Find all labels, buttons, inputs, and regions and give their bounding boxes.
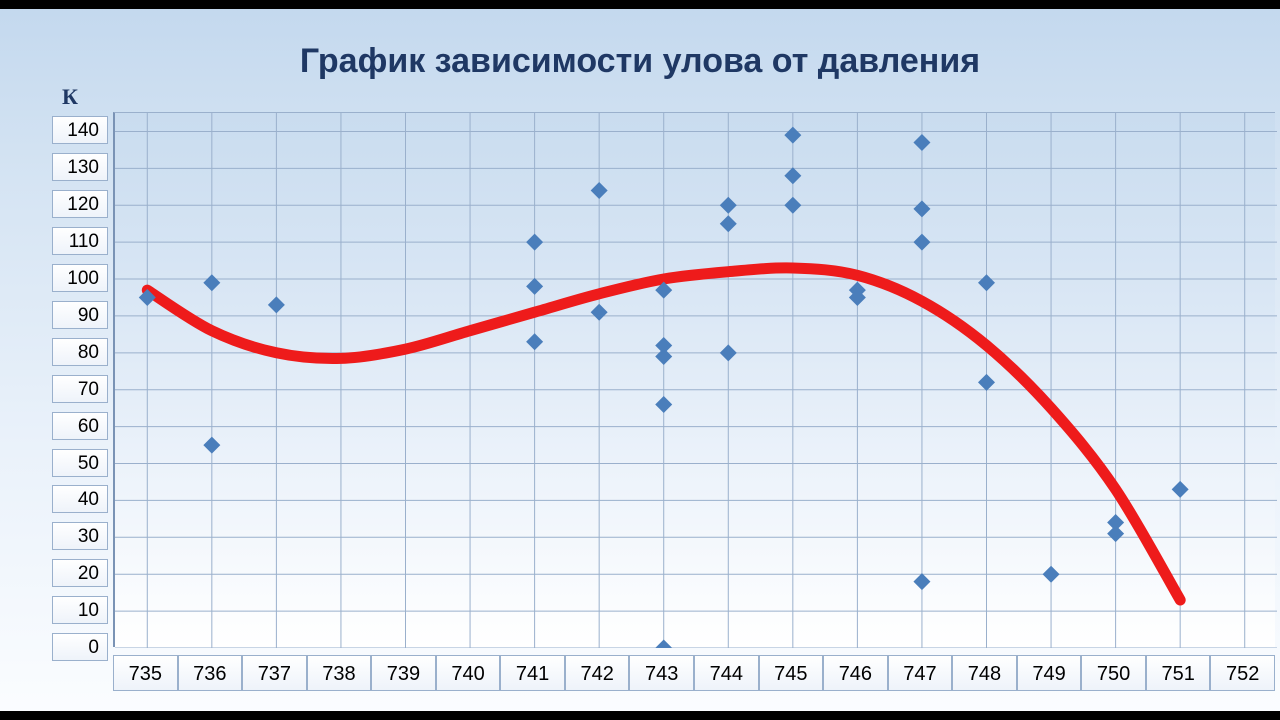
data-point-marker (720, 344, 737, 361)
y-axis-tick: 50 (52, 449, 108, 477)
y-axis-tick: 90 (52, 301, 108, 329)
x-axis-tick: 740 (436, 655, 501, 691)
y-axis-tick: 10 (52, 596, 108, 624)
y-axis-label: К (62, 84, 78, 110)
x-axis-tick: 749 (1017, 655, 1082, 691)
x-axis-tick: 736 (178, 655, 243, 691)
data-point-marker (655, 396, 672, 413)
data-point-marker (784, 127, 801, 144)
y-axis-tick: 60 (52, 412, 108, 440)
x-axis-tick: 750 (1081, 655, 1146, 691)
y-axis-tick: 100 (52, 264, 108, 292)
x-axis-tick: 751 (1146, 655, 1211, 691)
y-axis-tick: 130 (52, 153, 108, 181)
y-axis-tick: 30 (52, 522, 108, 550)
y-axis-tick: 70 (52, 375, 108, 403)
x-axis-tick: 744 (694, 655, 759, 691)
y-axis-tick: 140 (52, 116, 108, 144)
x-axis-tick: 738 (307, 655, 372, 691)
data-point-marker (913, 573, 930, 590)
data-point-marker (591, 304, 608, 321)
data-point-marker (720, 197, 737, 214)
x-axis-tick-labels: 7357367377387397407417427437447457467477… (113, 655, 1275, 691)
data-point-marker (591, 182, 608, 199)
data-point-marker (913, 134, 930, 151)
data-point-marker (1107, 525, 1124, 542)
data-point-marker (655, 640, 672, 649)
y-axis-tick: 120 (52, 190, 108, 218)
y-axis-tick-labels: 0102030405060708090100110120130140 (42, 112, 108, 657)
data-point-marker (268, 296, 285, 313)
y-axis-tick: 80 (52, 338, 108, 366)
data-point-marker (655, 348, 672, 365)
data-point-marker (720, 215, 737, 232)
x-axis-tick: 743 (629, 655, 694, 691)
x-axis-tick: 742 (565, 655, 630, 691)
data-point-marker (978, 274, 995, 291)
data-point-marker (913, 200, 930, 217)
letterbox-bottom-bar (0, 711, 1280, 720)
data-point-marker (203, 274, 220, 291)
x-axis-tick: 735 (113, 655, 178, 691)
data-point-marker (526, 278, 543, 295)
data-point-marker (526, 333, 543, 350)
x-axis-tick: 739 (371, 655, 436, 691)
x-axis-tick: 748 (952, 655, 1017, 691)
data-point-marker (1172, 481, 1189, 498)
y-axis-tick: 40 (52, 485, 108, 513)
chart-screenshot: График зависимости улова от давления К 0… (0, 0, 1280, 720)
x-axis-tick: 741 (500, 655, 565, 691)
y-axis-tick: 0 (52, 633, 108, 661)
plot-area (113, 112, 1275, 647)
data-point-marker (784, 197, 801, 214)
x-axis-tick: 752 (1210, 655, 1275, 691)
x-axis-tick: 737 (242, 655, 307, 691)
data-point-marker (1043, 566, 1060, 583)
plot-svg (115, 113, 1277, 648)
data-point-marker (526, 234, 543, 251)
data-point-marker (784, 167, 801, 184)
x-axis-tick: 745 (759, 655, 824, 691)
gridlines-group (115, 113, 1277, 648)
x-axis-tick: 746 (823, 655, 888, 691)
data-point-marker (913, 234, 930, 251)
x-axis-tick: 747 (888, 655, 953, 691)
letterbox-top-bar (0, 0, 1280, 9)
y-axis-tick: 110 (52, 227, 108, 255)
data-point-marker (978, 374, 995, 391)
data-point-marker (203, 437, 220, 454)
page-title: График зависимости улова от давления (0, 42, 1280, 81)
y-axis-tick: 20 (52, 559, 108, 587)
